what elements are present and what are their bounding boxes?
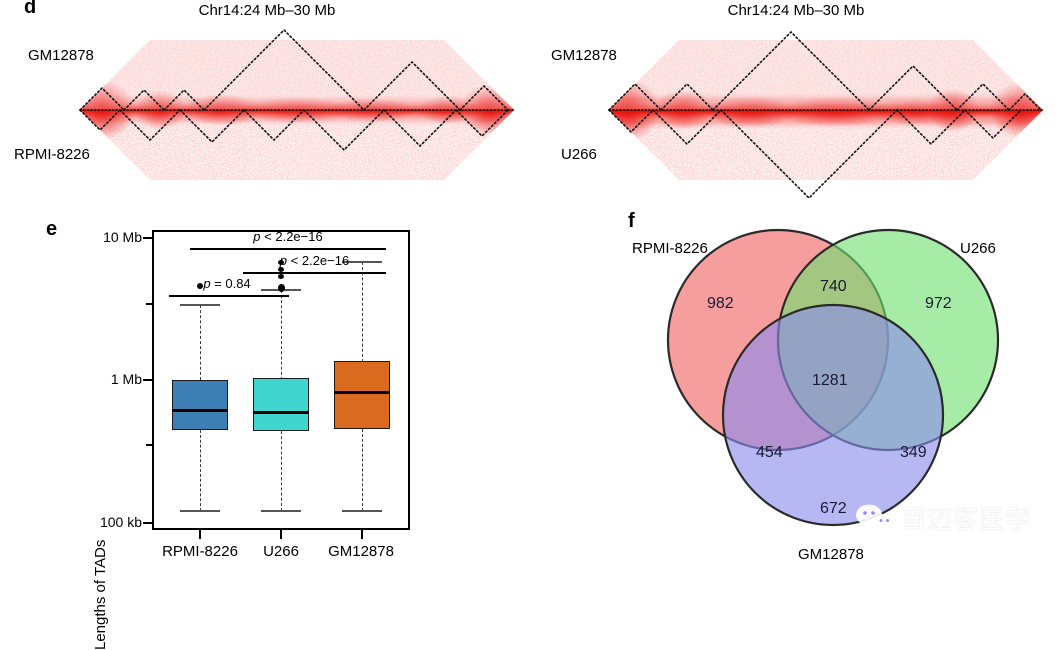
hic-right-title: Chr14:24 Mb–30 Mb — [681, 2, 911, 19]
boxplot-panel: Lengths of TADs 10 Mb 1 Mb 100 kb p < 2.… — [0, 200, 470, 568]
whisker-u266-lower — [281, 431, 282, 511]
hic-right-heatmap — [601, 20, 1051, 200]
boxplot-y-axis-label: Lengths of TADs — [92, 540, 109, 650]
boxplot-ytickmark-100kb — [143, 522, 152, 524]
pvalue-italic-p-1: p — [253, 229, 260, 244]
whisker-rpmi-upper — [200, 305, 201, 380]
box-u266 — [253, 378, 309, 431]
pvalue-label-rpmi-gm: p < 2.2e−16 — [190, 229, 386, 244]
boxplot-ytickmark-minor-2 — [146, 444, 152, 446]
pvalue-rest-3: = 0.84 — [211, 276, 251, 291]
whisker-rpmi-lower — [200, 430, 201, 511]
pvalue-italic-p-3: p — [203, 276, 210, 291]
wechat-icon — [855, 502, 895, 534]
whisker-cap-gm-lower — [342, 510, 382, 512]
boxplot-ytickmark-10mb — [143, 237, 152, 239]
box-rpmi-8226 — [172, 380, 228, 430]
boxplot-ytick-10mb: 10 Mb — [78, 229, 142, 245]
venn-count-rpmi-only: 982 — [707, 295, 734, 313]
hic-left-heatmap — [72, 20, 522, 200]
pvalue-label-u266-gm: p < 2.2e−16 — [243, 253, 386, 268]
venn-count-rpmi-gm: 454 — [756, 444, 783, 462]
boxplot-xlabel-rpmi: RPMI-8226 — [148, 543, 252, 560]
pvalue-label-rpmi-u266: p = 0.84 — [167, 276, 287, 291]
pvalue-italic-p-2: p — [280, 253, 287, 268]
pvalue-line-rpmi-gm — [190, 248, 386, 250]
boxplot-ytickmark-1mb — [143, 379, 152, 381]
pvalue-line-u266-gm — [243, 272, 386, 274]
venn-count-u266-gm: 349 — [900, 444, 927, 462]
boxplot-xtickmark-gm — [361, 530, 363, 539]
boxplot-xtickmark-rpmi — [199, 530, 201, 539]
box-gm12878 — [334, 361, 390, 429]
median-gm12878 — [334, 391, 390, 394]
watermark: 百迈客医学 — [855, 500, 1031, 536]
median-u266 — [253, 411, 309, 414]
pvalue-rest-1: < 2.2e−16 — [261, 229, 323, 244]
boxplot-xlabel-u266: U266 — [248, 543, 314, 560]
venn-count-rpmi-u266: 740 — [820, 278, 847, 296]
whisker-u266-upper — [281, 290, 282, 380]
hic-left-title: Chr14:24 Mb–30 Mb — [152, 2, 382, 19]
watermark-text: 百迈客医学 — [901, 500, 1031, 536]
venn-count-all-three: 1281 — [812, 372, 848, 390]
pvalue-rest-2: < 2.2e−16 — [287, 253, 349, 268]
boxplot-xlabel-gm: GM12878 — [312, 543, 410, 560]
pvalue-line-rpmi-u266 — [169, 295, 289, 297]
venn-count-gm-only: 672 — [820, 500, 847, 518]
boxplot-xtickmark-u266 — [280, 530, 282, 539]
boxplot-ytickmark-minor-1 — [146, 303, 152, 305]
boxplot-ytick-100kb: 100 kb — [70, 514, 142, 530]
venn-count-u266-only: 972 — [925, 295, 952, 313]
whisker-cap-rpmi-lower — [180, 510, 220, 512]
whisker-cap-rpmi-upper — [180, 304, 220, 306]
hic-right-bottom-label: U266 — [561, 146, 597, 163]
hic-panel-right: Chr14:24 Mb–30 Mb GM12878 U266 — [529, 0, 1058, 200]
median-rpmi-8226 — [172, 409, 228, 412]
boxplot-ytick-1mb: 1 Mb — [78, 371, 142, 387]
venn-circle-gm — [723, 305, 943, 525]
whisker-gm-lower — [362, 429, 363, 511]
whisker-cap-u266-lower — [261, 510, 301, 512]
whisker-gm-upper — [362, 262, 363, 362]
hic-panel-left: Chr14:24 Mb–30 Mb GM12878 RPMI-8226 — [0, 0, 529, 200]
